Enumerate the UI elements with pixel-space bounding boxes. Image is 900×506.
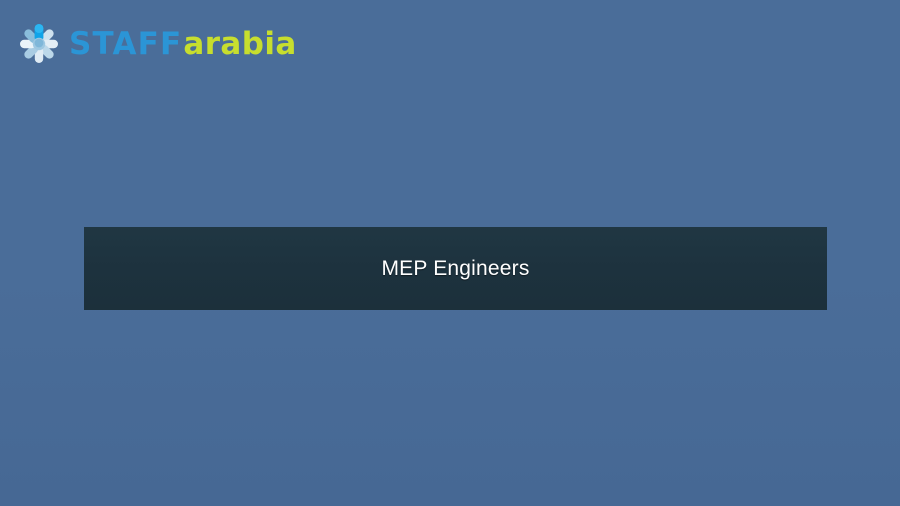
- snowflake-icon: [16, 21, 62, 67]
- brand-logo[interactable]: STAFF arabia: [16, 22, 297, 66]
- page-title: MEP Engineers: [381, 257, 529, 281]
- title-banner: MEP Engineers: [84, 227, 827, 310]
- brand-word-arabia: arabia: [183, 29, 296, 60]
- brand-wordmark: STAFF arabia: [69, 29, 297, 60]
- brand-word-staff: STAFF: [69, 29, 182, 60]
- slide-canvas: STAFF arabia MEP Engineers: [0, 0, 900, 506]
